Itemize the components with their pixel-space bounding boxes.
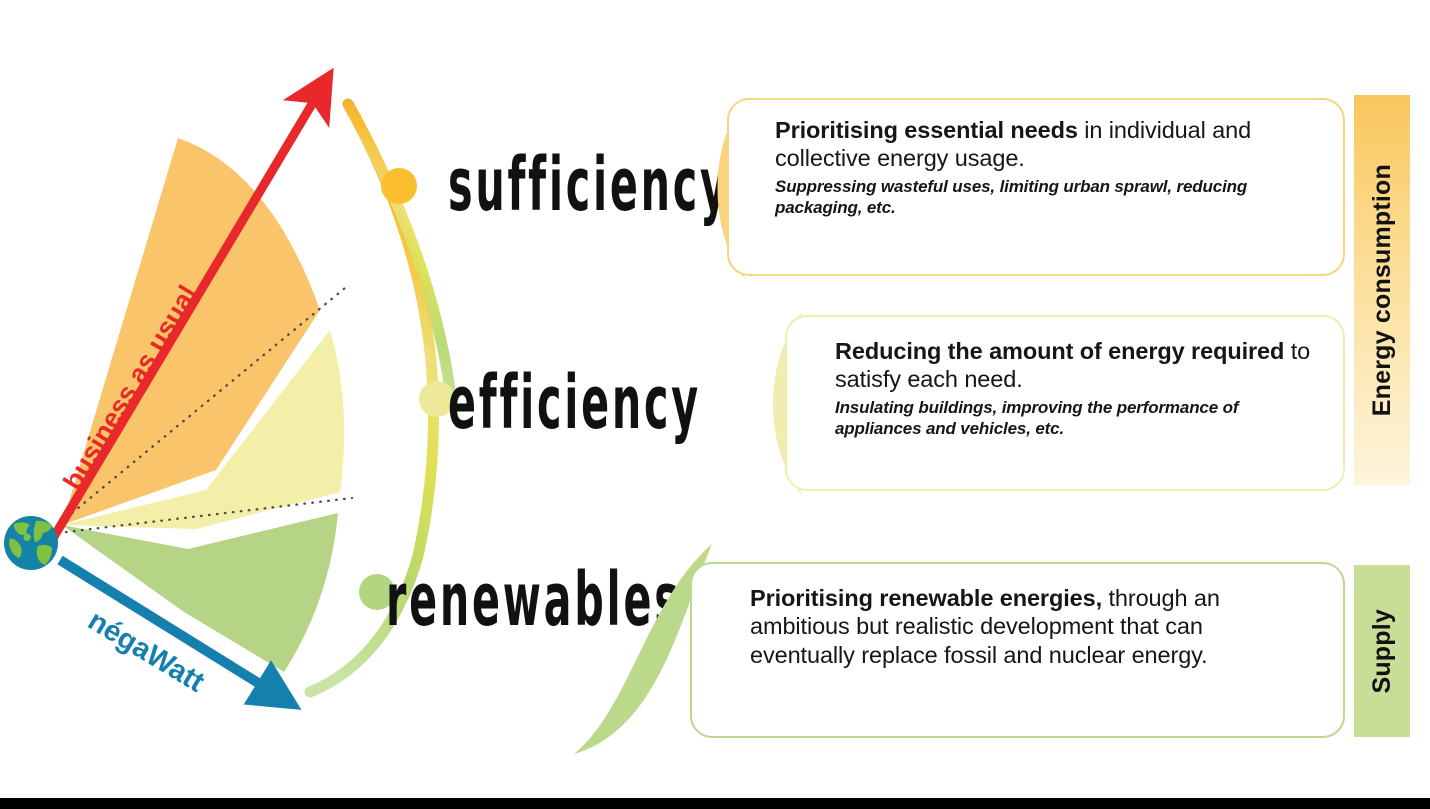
category-label-efficiency: efficiency	[448, 366, 701, 440]
callout-sufficiency: Prioritising essential needs in individu…	[700, 90, 1345, 285]
sufficiency-node-icon	[381, 168, 417, 204]
callout-text-efficiency: Reducing the amount of energy required t…	[835, 337, 1325, 439]
callout-efficiency: Reducing the amount of energy required t…	[745, 305, 1345, 501]
side-bar-supply: Supply	[1354, 565, 1410, 737]
callout-lead-renewables: Prioritising renewable energies, through…	[750, 584, 1310, 669]
callout-sub-efficiency: Insulating buildings, improving the perf…	[835, 398, 1325, 439]
callout-lead-bold-sufficiency: Prioritising essential needs	[775, 117, 1078, 143]
side-bar-energy-consumption: Energy consumption	[1354, 95, 1410, 485]
callout-text-renewables: Prioritising renewable energies, through…	[750, 584, 1310, 669]
callout-text-sufficiency: Prioritising essential needs in individu…	[775, 116, 1320, 218]
bottom-rule	[0, 798, 1430, 809]
side-bar-label-energy-consumption: Energy consumption	[1368, 164, 1397, 416]
callout-sub-sufficiency: Suppressing wasteful uses, limiting urba…	[775, 177, 1320, 218]
callout-renewables: Prioritising renewable energies, through…	[560, 540, 1345, 758]
callout-lead-sufficiency: Prioritising essential needs in individu…	[775, 116, 1320, 173]
callout-lead-efficiency: Reducing the amount of energy required t…	[835, 337, 1325, 394]
side-bar-label-supply: Supply	[1368, 609, 1397, 694]
infographic-negawatt-approach: business as usual négaWatt sufficiency e…	[0, 0, 1430, 809]
callout-lead-bold-renewables: Prioritising renewable energies,	[750, 585, 1102, 611]
earth-globe-icon	[4, 516, 58, 570]
category-label-sufficiency: sufficiency	[448, 148, 730, 222]
callout-lead-bold-efficiency: Reducing the amount of energy required	[835, 338, 1284, 364]
